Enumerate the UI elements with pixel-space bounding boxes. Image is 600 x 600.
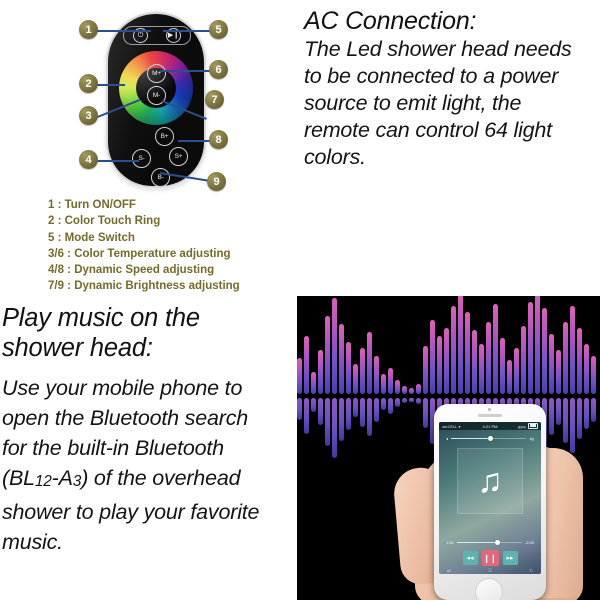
smartphone: ••••• CELL ▾ 4:21 PM 89% ◂ [434,404,546,600]
waveform-bar [514,348,519,394]
list-icon[interactable]: ☰ [488,568,492,574]
waveform-bar-mirror [311,398,316,412]
callout-marker-5: 5 [209,20,228,39]
waveform-bar [367,332,372,394]
status-right: 89% [497,423,538,430]
status-bar: ••••• CELL ▾ 4:21 PM 89% [439,422,541,430]
waveform-bar [318,350,323,394]
legend-item: 3/6 : Color Temperature adjusting [48,246,296,262]
waveform-bar-mirror [423,398,428,428]
waveform-bar-mirror [374,398,379,422]
waveform-bar [507,360,512,394]
progress-track[interactable] [457,542,522,544]
remote-legend-list: 1 : Turn ON/OFF 2 : Color Touch Ring 5 :… [48,197,296,295]
waveform-bar [493,304,498,394]
elapsed-time-label: 1:52 [446,540,454,545]
ac-body-line: to be connected to a power [304,63,596,90]
earpiece-speaker [478,414,502,417]
play-music-body: Use your mobile phone to open the Blueto… [2,373,298,557]
legend-item: 4/8 : Dynamic Speed adjusting [48,262,296,278]
waveform-bar [339,324,344,394]
waveform-bar-mirror [325,398,330,446]
legend-item: 2 : Color Touch Ring [48,213,296,229]
waveform-bar-mirror [339,398,344,441]
callout-marker-8: 8 [209,130,228,149]
remaining-time-label: -2:45 [525,540,534,545]
waveform-bar-mirror [395,398,400,407]
waveform-bar [528,302,533,394]
play-music-body-line: open the Bluetooth search [2,403,298,433]
volume-max-icon: ◂)) [529,436,534,441]
waveform-bar [542,308,547,394]
ac-body-line: The Led shower head needs [304,36,596,63]
waveform-bar [521,326,526,394]
front-camera-icon [488,408,491,411]
bt-suffix: ) of the overhead [81,466,240,490]
waveform-bar [465,312,470,394]
bt-prefix: (BL [2,466,35,490]
ac-body-line: remote can control 64 light [304,117,596,144]
waveform-bar [570,306,575,394]
waveform-bar [409,388,414,394]
play-music-body-line: shower to play your favorite [2,497,298,527]
waveform-bar [374,356,379,394]
waveform-bar-mirror [360,398,365,427]
waveform-bar [535,296,540,394]
waveform-bar [472,330,477,394]
callout-marker-1: 1 [79,20,98,39]
waveform-bar-mirror [563,398,568,443]
waveform-bar [395,380,400,394]
ac-body-line: colors. [304,144,596,171]
wifi-icon: ▾ [459,424,461,429]
play-music-heading-line: shower head: [2,333,298,363]
waveform-bar-mirror [409,398,414,402]
album-artwork: ♫ [457,448,523,514]
music-note-icon: ♫ [477,464,503,498]
play-music-body-line: for the built-in Bluetooth [2,433,298,463]
play-music-body-line: music. [2,527,298,557]
signal-strength-icon: ••••• [442,424,447,429]
pause-button[interactable]: ❙❙ [482,550,499,566]
waveform-bar [430,320,435,394]
leader-line-1 [95,30,151,32]
waveform-bar [556,350,561,394]
callout-marker-6: 6 [209,60,228,79]
waveform-bar-mirror [304,398,309,434]
waveform-bar [353,364,358,394]
leader-line-5 [163,30,213,32]
battery-percent-label: 89% [518,424,526,429]
waveform-bar [332,298,337,394]
waveform-bar [577,328,582,394]
callout-marker-3: 3 [79,106,98,125]
product-info-infographic: ⏻ ▶❙ M+ M- B+ S- S+ B- 1 2 3 4 5 6 7 8 9… [0,0,600,600]
waveform-bar [563,322,568,394]
waveform-bar-mirror [570,398,575,453]
play-music-body-line: Use your mobile phone to [2,373,298,403]
battery-icon [528,423,538,429]
next-track-button[interactable]: ▸▸ [503,551,518,565]
waveform-bar-mirror [318,398,323,425]
callout-marker-9: 9 [207,172,226,191]
play-music-bluetooth-model-line: (BL12-A3) of the overhead [2,463,298,497]
callout-marker-2: 2 [79,74,98,93]
speed-minus-button[interactable]: S- [132,149,151,168]
transport-controls: ◂◂ ❙❙ ▸▸ [439,550,541,566]
waveform-bar [360,348,365,394]
play-music-heading: Play music on the shower head: [2,303,298,363]
ac-connection-section: AC Connection: The Led shower head needs… [304,6,596,171]
clock-label: 4:21 PM [483,424,498,429]
waveform-bar-mirror [388,398,393,414]
home-button[interactable] [475,578,503,600]
progress-slider-row[interactable]: 1:52 -2:45 [446,540,534,545]
waveform-bar-mirror [381,398,386,410]
leader-line-2 [95,84,125,86]
waveform-bar-mirror [549,398,554,435]
waveform-bar [458,296,463,394]
shuffle-icon[interactable]: ⇄ [447,568,451,574]
brightness-plus-button[interactable]: B+ [155,127,174,146]
waveform-bar [346,342,351,394]
waveform-bar [388,368,393,394]
waveform-bar-mirror [367,398,372,436]
waveform-bar [297,358,302,394]
volume-track[interactable] [451,438,526,440]
waveform-bar [402,386,407,394]
waveform-bar-mirror [346,398,351,430]
ac-body-line: source to emit light, the [304,90,596,117]
waveform-bar-mirror [353,398,358,417]
waveform-bar-mirror [402,398,407,403]
waveform-bar [437,336,442,394]
speed-plus-button[interactable]: S+ [169,147,188,166]
volume-slider-row[interactable]: ◂ ◂)) [446,436,534,441]
legend-item: 7/9 : Dynamic Brightness adjusting [48,278,296,294]
bt-sub-12: 12 [35,473,52,490]
waveform-bar [304,336,309,394]
waveform-bar [591,356,596,394]
waveform-bar [381,374,386,394]
waveform-bar [549,334,554,394]
callout-marker-4: 4 [79,150,98,169]
remote-control-diagram: ⏻ ▶❙ M+ M- B+ S- S+ B- 1 2 3 4 5 6 7 8 9… [0,0,300,296]
waveform-bar [451,306,456,394]
carrier-label: CELL [448,424,458,429]
brightness-minus-button[interactable]: B- [151,168,170,187]
waveform-bar [325,316,330,394]
waveform-bar [584,344,589,394]
volume-fill [451,438,490,440]
volume-knob[interactable] [488,436,493,441]
waveform-bar [500,338,505,394]
waveform-bar-mirror [332,398,337,458]
waveform-bar-mirror [577,398,582,439]
callout-marker-7: 7 [205,90,224,109]
progress-fill [457,542,497,544]
waveform-bar [444,328,449,394]
waveform-bar [486,322,491,394]
mode-plus-button[interactable]: M+ [147,64,166,83]
bt-sub-3: 3 [73,473,81,490]
waveform-bar [479,344,484,394]
previous-track-button[interactable]: ◂◂ [463,551,478,565]
repeat-icon[interactable]: ↻ [529,568,533,574]
top-button-pill: ⏻ ▶❙ [123,26,191,45]
status-left: ••••• CELL ▾ [442,424,483,429]
waveform-bar-mirror [591,398,596,422]
waveform-bar-mirror [556,398,561,425]
ac-connection-body: The Led shower head needs to be connecte… [304,36,596,171]
leader-line-4 [95,160,139,162]
waveform-bar [423,346,428,394]
waveform-bar [311,372,316,394]
waveform-bar-mirror [416,398,421,404]
waveform-bar-mirror [584,398,589,429]
secondary-controls: ⇄ ☰ ↻ [447,568,533,574]
bt-mid: -A [52,466,73,490]
progress-knob[interactable] [495,540,500,545]
leader-line-6 [160,70,214,72]
play-music-heading-line: Play music on the [2,303,298,333]
ac-connection-heading: AC Connection: [304,6,596,36]
legend-item: 5 : Mode Switch [48,230,296,246]
waveform-bar-mirror [297,398,302,420]
volume-min-icon: ◂ [446,436,448,441]
music-playback-photo: ••••• CELL ▾ 4:21 PM 89% ◂ [297,296,600,600]
waveform-bar [416,384,421,394]
legend-item: 1 : Turn ON/OFF [48,197,296,213]
phone-screen: ••••• CELL ▾ 4:21 PM 89% ◂ [439,422,541,574]
play-music-section: Play music on the shower head: Use your … [2,303,298,557]
